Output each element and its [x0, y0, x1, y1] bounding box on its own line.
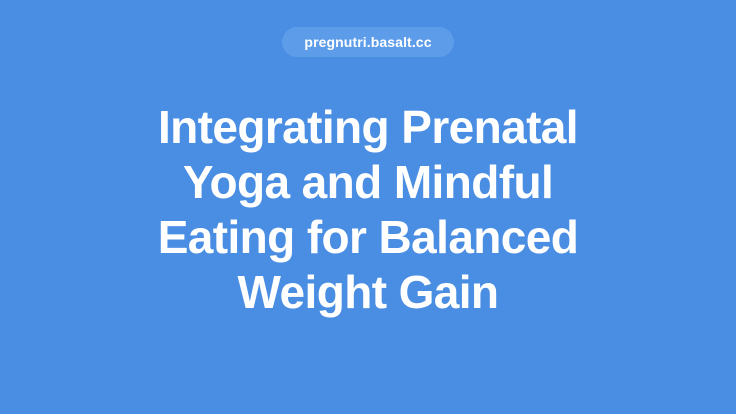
domain-badge-label: pregnutri.basalt.cc	[304, 35, 431, 49]
page-title-line-3: Eating for Balanced	[133, 210, 603, 265]
page-title: Integrating Prenatal Yoga and Mindful Ea…	[133, 100, 603, 320]
title-slide: pregnutri.basalt.cc Integrating Prenatal…	[0, 0, 736, 414]
page-title-line-4: Weight Gain	[133, 265, 603, 320]
page-title-line-1: Integrating Prenatal	[133, 100, 603, 155]
domain-badge: pregnutri.basalt.cc	[282, 27, 453, 57]
page-title-line-2: Yoga and Mindful	[133, 155, 603, 210]
